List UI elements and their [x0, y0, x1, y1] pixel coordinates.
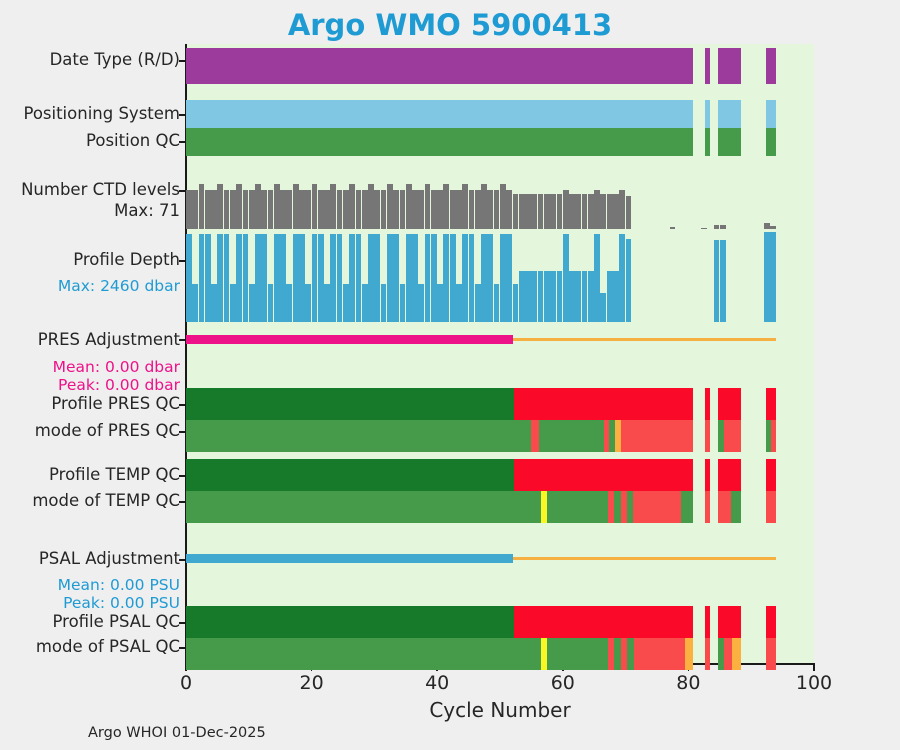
- row-label-mode-temp-qc: mode of TEMP QC: [2, 491, 186, 511]
- bar: [268, 190, 274, 229]
- bar: [538, 194, 544, 229]
- bar: [211, 284, 217, 322]
- bar: [330, 184, 336, 229]
- bar: [619, 190, 625, 229]
- bar: [462, 184, 468, 229]
- bar: [374, 190, 380, 229]
- bar: [714, 240, 720, 322]
- row-label-pres-mean: Mean: 0.00 dbar: [2, 357, 186, 377]
- bar: [575, 194, 581, 229]
- y-tick-3: [179, 190, 186, 192]
- segment: [633, 491, 681, 523]
- bar: [224, 190, 230, 229]
- bar: [494, 190, 500, 229]
- bar: [374, 234, 380, 322]
- bar: [670, 227, 676, 229]
- band-date-type-r-d: [186, 48, 814, 84]
- bar: [550, 194, 556, 229]
- bar: [349, 234, 355, 322]
- segment: [186, 459, 514, 491]
- bar: [243, 234, 249, 322]
- bar: [356, 190, 362, 229]
- bar: [230, 190, 236, 229]
- segment: [514, 388, 693, 420]
- band-pres-adjustment: [186, 334, 814, 344]
- segment: [705, 128, 711, 156]
- bar: [205, 190, 211, 229]
- bar: [192, 190, 198, 229]
- bar: [261, 190, 267, 229]
- bar: [475, 284, 481, 322]
- segment: [186, 48, 693, 84]
- bar: [199, 234, 205, 322]
- x-tick-label-20: 20: [300, 672, 324, 694]
- bar: [343, 284, 349, 322]
- row-label-profile-depth: Profile Depth: [2, 250, 186, 270]
- row-label-psal-mean: Mean: 0.00 PSU: [2, 575, 186, 595]
- bar: [531, 271, 537, 322]
- band-number-ctd-levels: [186, 184, 814, 229]
- bar: [569, 271, 575, 322]
- bar: [387, 184, 393, 229]
- bar: [500, 184, 506, 229]
- adjustment-line-segment: [513, 557, 777, 560]
- bar: [764, 232, 770, 322]
- bar: [318, 234, 324, 322]
- bar: [324, 284, 330, 322]
- bar: [255, 234, 261, 322]
- band-positioning-system: [186, 100, 814, 128]
- bar: [217, 234, 223, 322]
- bar: [381, 284, 387, 322]
- band-mode-of-temp-qc: [186, 491, 814, 523]
- segment: [705, 459, 711, 491]
- bar: [280, 190, 286, 229]
- bar: [607, 271, 613, 322]
- segment: [705, 420, 711, 452]
- bar: [387, 234, 393, 322]
- segment: [685, 638, 694, 670]
- segment: [766, 491, 777, 523]
- bar: [519, 194, 525, 229]
- bar: [456, 190, 462, 229]
- bar: [286, 190, 292, 229]
- bar: [199, 184, 205, 229]
- bar: [412, 234, 418, 322]
- segment: [514, 606, 693, 638]
- bar: [714, 225, 720, 229]
- bar: [406, 234, 412, 322]
- segment: [718, 100, 741, 128]
- row-label-positioning-system: Positioning System: [2, 104, 186, 124]
- band-psal-adjustment: [186, 553, 814, 563]
- bar: [293, 184, 299, 229]
- adjustment-line-segment: [186, 335, 513, 344]
- row-label-mode-psal-qc: mode of PSAL QC: [2, 637, 186, 657]
- bar: [205, 234, 211, 322]
- bar: [318, 190, 324, 229]
- x-axis-label: Cycle Number: [186, 698, 814, 722]
- bar: [720, 225, 726, 229]
- bar: [217, 184, 223, 229]
- bar: [406, 184, 412, 229]
- bar: [582, 194, 588, 229]
- bar: [575, 271, 581, 322]
- bar: [425, 234, 431, 322]
- bar: [249, 190, 255, 229]
- bar: [324, 190, 330, 229]
- bar: [613, 194, 619, 229]
- bar: [437, 284, 443, 322]
- segment: [614, 638, 621, 670]
- bar: [594, 234, 600, 322]
- bar: [400, 284, 406, 322]
- segment: [547, 491, 608, 523]
- bar: [356, 234, 362, 322]
- adjustment-line-segment: [186, 554, 513, 563]
- bar: [487, 234, 493, 322]
- row-label-mode-pres-qc: mode of PRES QC: [2, 421, 186, 441]
- bar: [443, 234, 449, 322]
- bar: [544, 271, 550, 322]
- bar: [236, 184, 242, 229]
- bar: [525, 271, 531, 322]
- bar: [469, 234, 475, 322]
- band-mode-of-psal-qc: [186, 638, 814, 670]
- bar: [569, 194, 575, 229]
- bar: [456, 284, 462, 322]
- bar: [400, 190, 406, 229]
- segment: [718, 128, 741, 156]
- bar: [450, 190, 456, 229]
- bar: [588, 271, 594, 322]
- y-tick-1: [179, 114, 186, 116]
- segment: [186, 491, 541, 523]
- bar: [312, 184, 318, 229]
- bar: [443, 184, 449, 229]
- bar: [487, 190, 493, 229]
- bar: [450, 234, 456, 322]
- segment: [705, 388, 711, 420]
- row-label-psal-peak: Peak: 0.00 PSU: [2, 593, 186, 613]
- bar: [230, 284, 236, 322]
- bar: [563, 234, 569, 322]
- x-tick-label-0: 0: [180, 672, 192, 694]
- y-tick-6: [179, 404, 186, 406]
- segment: [766, 606, 777, 638]
- bar: [255, 184, 261, 229]
- segment: [766, 388, 777, 420]
- bar: [349, 184, 355, 229]
- bar: [770, 232, 776, 322]
- bar: [299, 190, 305, 229]
- segment: [724, 420, 741, 452]
- footer-credit: Argo WHOI 01-Dec-2025: [88, 725, 266, 741]
- row-label-psal-adjustment: PSAL Adjustment: [2, 549, 186, 569]
- bar: [544, 194, 550, 229]
- bar: [224, 234, 230, 322]
- bar: [393, 234, 399, 322]
- bar: [236, 234, 242, 322]
- segment: [186, 100, 693, 128]
- y-tick-12: [179, 647, 186, 649]
- segment: [724, 638, 732, 670]
- bar: [506, 234, 512, 322]
- row-label-pres-adjustment: PRES Adjustment: [2, 330, 186, 350]
- segment: [718, 388, 741, 420]
- segment: [766, 459, 777, 491]
- bar: [431, 234, 437, 322]
- bar: [186, 234, 192, 322]
- segment: [766, 638, 777, 670]
- bar: [519, 271, 525, 322]
- bar: [513, 194, 519, 229]
- segment: [186, 606, 514, 638]
- bar: [368, 184, 374, 229]
- y-tick-9: [179, 501, 186, 503]
- bar: [312, 234, 318, 322]
- segment: [731, 491, 740, 523]
- segment: [705, 491, 711, 523]
- bar: [437, 190, 443, 229]
- bar: [337, 190, 343, 229]
- segment: [718, 459, 741, 491]
- band-profile-pres-qc: [186, 388, 814, 420]
- band-profile-temp-qc: [186, 459, 814, 491]
- segment: [705, 638, 711, 670]
- segment: [186, 420, 514, 452]
- bar: [343, 190, 349, 229]
- bar: [500, 234, 506, 322]
- y-tick-8: [179, 475, 186, 477]
- bar: [538, 271, 544, 322]
- band-mode-of-pres-qc: [186, 420, 814, 452]
- bar: [393, 190, 399, 229]
- row-label-profile-pres-qc: Profile PRES QC: [2, 394, 186, 414]
- segment: [547, 638, 608, 670]
- bar: [513, 284, 519, 322]
- bar: [481, 184, 487, 229]
- bar: [701, 228, 707, 230]
- row-label-profile-psal-qc: Profile PSAL QC: [2, 612, 186, 632]
- row-label-date-type: Date Type (R/D): [2, 50, 186, 70]
- band-profile-psal-qc: [186, 606, 814, 638]
- row-label-profile-depth-max: Max: 2460 dbar: [2, 276, 186, 296]
- segment: [766, 48, 777, 84]
- adjustment-line-segment: [513, 338, 777, 341]
- bar: [211, 190, 217, 229]
- bar: [506, 190, 512, 229]
- segment: [771, 420, 777, 452]
- bar: [600, 194, 606, 229]
- bar: [431, 190, 437, 229]
- bar: [557, 194, 563, 229]
- bar: [525, 194, 531, 229]
- segment: [514, 459, 693, 491]
- segment: [531, 420, 539, 452]
- bar: [261, 234, 267, 322]
- segment: [186, 128, 693, 156]
- bar: [582, 271, 588, 322]
- bar: [557, 271, 563, 322]
- bar: [563, 190, 569, 229]
- bar: [274, 234, 280, 322]
- bar: [412, 190, 418, 229]
- y-tick-10: [179, 559, 186, 561]
- bar: [481, 234, 487, 322]
- bar: [305, 190, 311, 229]
- bar: [305, 284, 311, 322]
- bar: [299, 234, 305, 322]
- segment: [732, 638, 741, 670]
- bar: [362, 190, 368, 229]
- segment: [681, 491, 694, 523]
- bar: [425, 184, 431, 229]
- x-tick-label-80: 80: [676, 672, 700, 694]
- bar: [720, 240, 726, 322]
- band-position-qc: [186, 128, 814, 156]
- bar: [274, 184, 280, 229]
- bar: [531, 194, 537, 229]
- bar: [550, 271, 556, 322]
- segment: [766, 128, 777, 156]
- bar: [594, 190, 600, 229]
- bar: [368, 234, 374, 322]
- segment: [539, 420, 604, 452]
- segment: [621, 420, 693, 452]
- y-tick-7: [179, 431, 186, 433]
- x-tick-label-40: 40: [425, 672, 449, 694]
- bar: [764, 223, 770, 229]
- bar: [607, 194, 613, 229]
- bar: [362, 284, 368, 322]
- bar: [469, 190, 475, 229]
- y-tick-2: [179, 141, 186, 143]
- bar: [186, 190, 192, 229]
- y-tick-5: [179, 339, 186, 341]
- row-label-ctd-levels: Number CTD levels: [2, 180, 186, 200]
- row-label-position-qc: Position QC: [2, 131, 186, 151]
- bar: [600, 293, 606, 322]
- segment: [705, 606, 711, 638]
- bar: [494, 284, 500, 322]
- row-label-pres-peak: Peak: 0.00 dbar: [2, 375, 186, 395]
- segment: [718, 606, 741, 638]
- y-tick-0: [179, 60, 186, 62]
- bar: [280, 234, 286, 322]
- bar: [293, 234, 299, 322]
- bar: [337, 234, 343, 322]
- x-tick-label-100: 100: [796, 672, 832, 694]
- x-tick-label-60: 60: [551, 672, 575, 694]
- bar: [381, 190, 387, 229]
- segment: [186, 388, 514, 420]
- bar: [462, 234, 468, 322]
- segment: [705, 48, 711, 84]
- y-tick-4: [179, 260, 186, 262]
- bar: [243, 190, 249, 229]
- bar: [626, 196, 632, 229]
- bar: [626, 239, 632, 322]
- bar: [475, 190, 481, 229]
- bar: [418, 190, 424, 229]
- segment: [766, 100, 777, 128]
- segment: [514, 420, 531, 452]
- bar: [268, 284, 274, 322]
- bar: [588, 194, 594, 229]
- bar: [418, 284, 424, 322]
- segment: [718, 491, 731, 523]
- bar: [286, 284, 292, 322]
- segment: [614, 491, 621, 523]
- row-label-ctd-levels-max: Max: 71: [2, 201, 186, 221]
- segment: [634, 638, 685, 670]
- segment: [705, 100, 711, 128]
- bar: [619, 234, 625, 322]
- row-label-column: Date Type (R/D) Positioning System Posit…: [0, 0, 186, 750]
- row-label-profile-temp-qc: Profile TEMP QC: [2, 465, 186, 485]
- segment: [718, 48, 741, 84]
- bar: [330, 234, 336, 322]
- y-tick-11: [179, 622, 186, 624]
- band-profile-depth: [186, 232, 814, 322]
- bar: [249, 284, 255, 322]
- bar: [613, 271, 619, 322]
- segment: [186, 638, 541, 670]
- bar: [192, 284, 198, 322]
- bar: [770, 226, 776, 229]
